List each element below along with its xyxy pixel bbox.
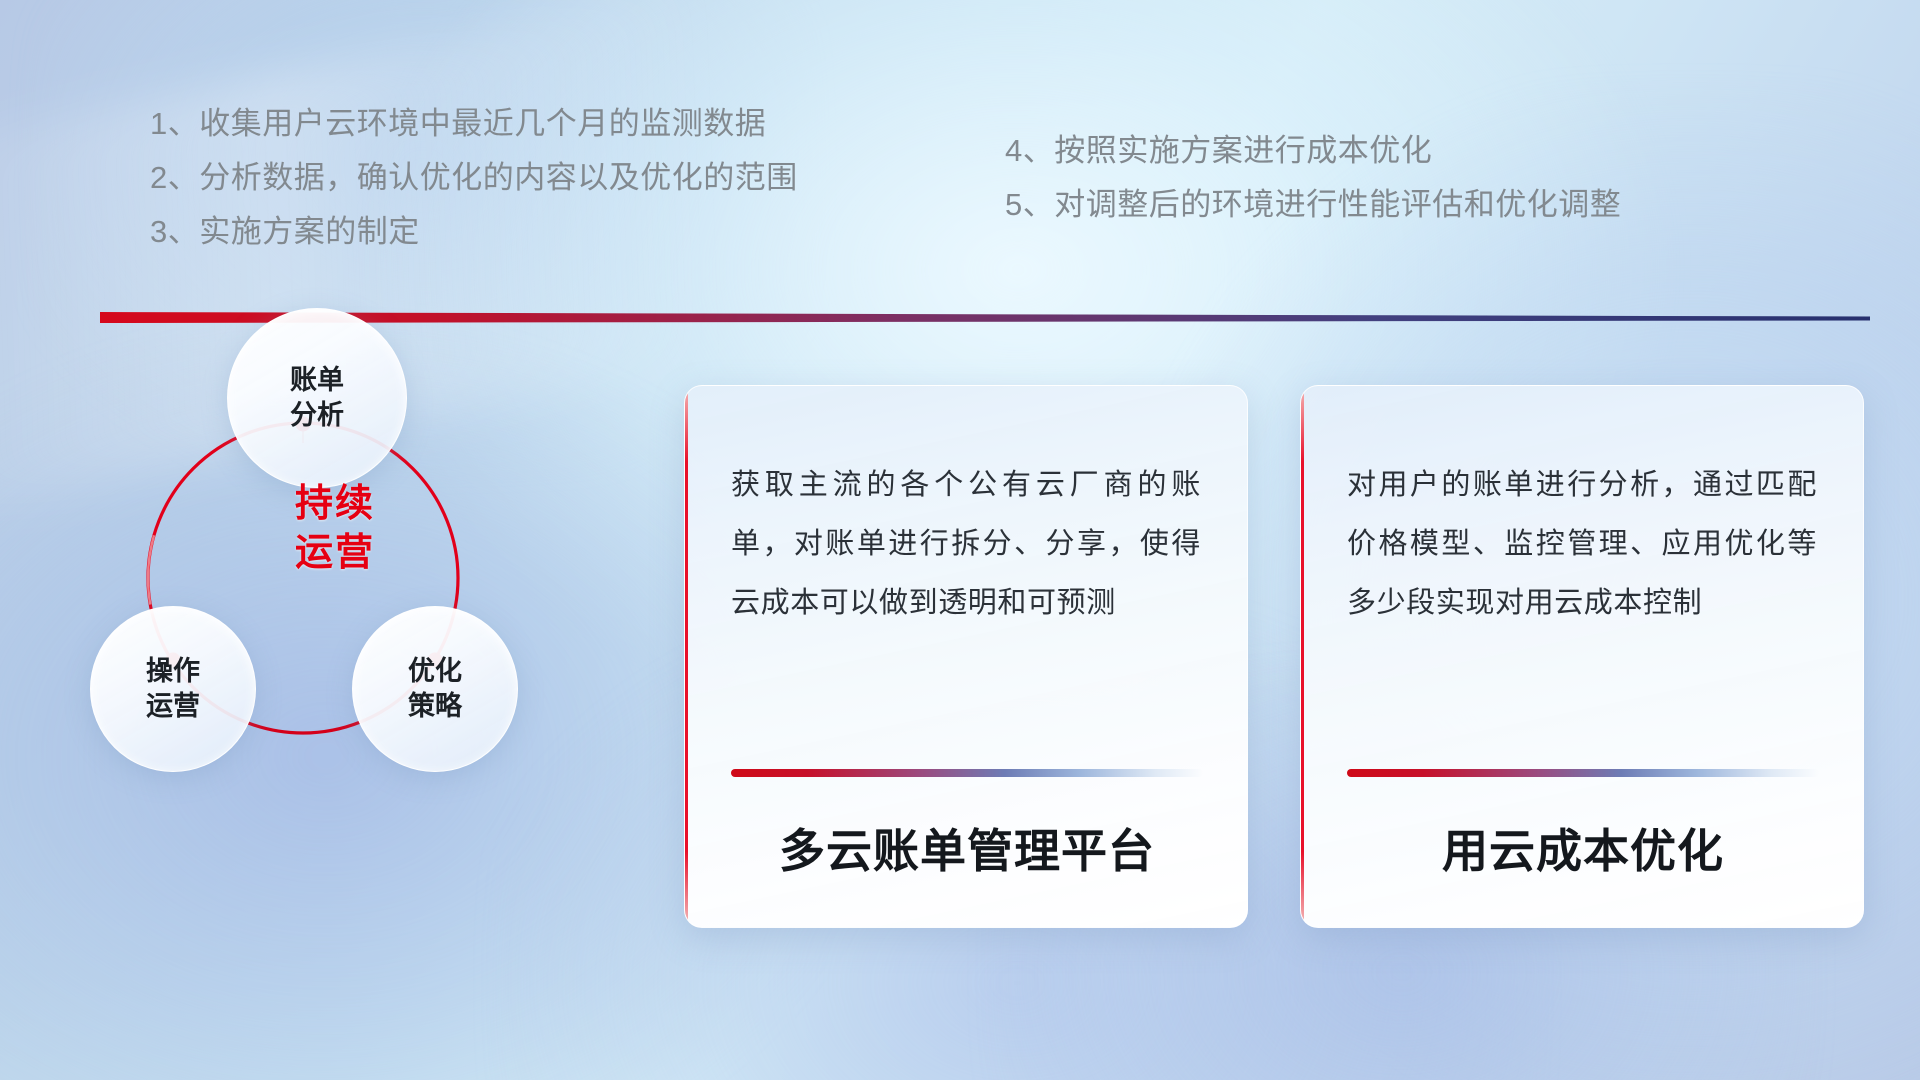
card-cloud-cost-optimization[interactable]: 对用户的账单进行分析，通过匹配价格模型、监控管理、应用优化等多少段实现对用云成本… bbox=[1300, 385, 1864, 928]
center-label-line1: 持续 bbox=[245, 480, 425, 529]
bubble-operation-line2: 运营 bbox=[146, 689, 200, 724]
step-item-3: 3、实施方案的制定 bbox=[150, 206, 420, 251]
diagram-center-label: 持续 运营 bbox=[245, 480, 425, 579]
bubble-optimization-strategy[interactable]: 优化 策略 bbox=[352, 606, 518, 772]
bubble-operation[interactable]: 操作 运营 bbox=[90, 606, 256, 772]
card-multicloud-billing-body: 获取主流的各个公有云厂商的账单，对账单进行拆分、分享，使得云成本可以做到透明和可… bbox=[731, 456, 1201, 633]
bubble-operation-line1: 操作 bbox=[146, 654, 200, 689]
card-cloud-cost-optimization-rule bbox=[1347, 769, 1819, 777]
step-item-1: 1、收集用户云环境中最近几个月的监测数据 bbox=[150, 98, 766, 143]
step-item-4: 4、按照实施方案进行成本优化 bbox=[1005, 125, 1432, 170]
continuous-operation-diagram: 账单 分析 操作 运营 优化 策略 持续 运营 bbox=[70, 340, 590, 810]
card-cloud-cost-optimization-body: 对用户的账单进行分析，通过匹配价格模型、监控管理、应用优化等多少段实现对用云成本… bbox=[1347, 456, 1817, 633]
bubble-bill-analysis[interactable]: 账单 分析 bbox=[227, 308, 407, 488]
center-label-line2: 运营 bbox=[245, 529, 425, 578]
bubble-bill-analysis-line1: 账单 bbox=[290, 363, 344, 398]
bubble-optimization-line2: 策略 bbox=[408, 689, 462, 724]
card-multicloud-billing-rule bbox=[731, 769, 1203, 777]
feature-cards: 获取主流的各个公有云厂商的账单，对账单进行拆分、分享，使得云成本可以做到透明和可… bbox=[684, 385, 1864, 930]
bubble-optimization-line1: 优化 bbox=[408, 654, 462, 689]
card-multicloud-billing[interactable]: 获取主流的各个公有云厂商的账单，对账单进行拆分、分享，使得云成本可以做到透明和可… bbox=[684, 385, 1248, 928]
card-cloud-cost-optimization-title: 用云成本优化 bbox=[1347, 824, 1819, 879]
steps-list: 1、收集用户云环境中最近几个月的监测数据 2、分析数据，确认优化的内容以及优化的… bbox=[0, 0, 1920, 250]
step-item-2: 2、分析数据，确认优化的内容以及优化的范围 bbox=[150, 152, 798, 197]
step-item-5: 5、对调整后的环境进行性能评估和优化调整 bbox=[1005, 179, 1621, 224]
card-multicloud-billing-title: 多云账单管理平台 bbox=[731, 824, 1203, 879]
bubble-bill-analysis-line2: 分析 bbox=[290, 398, 344, 433]
